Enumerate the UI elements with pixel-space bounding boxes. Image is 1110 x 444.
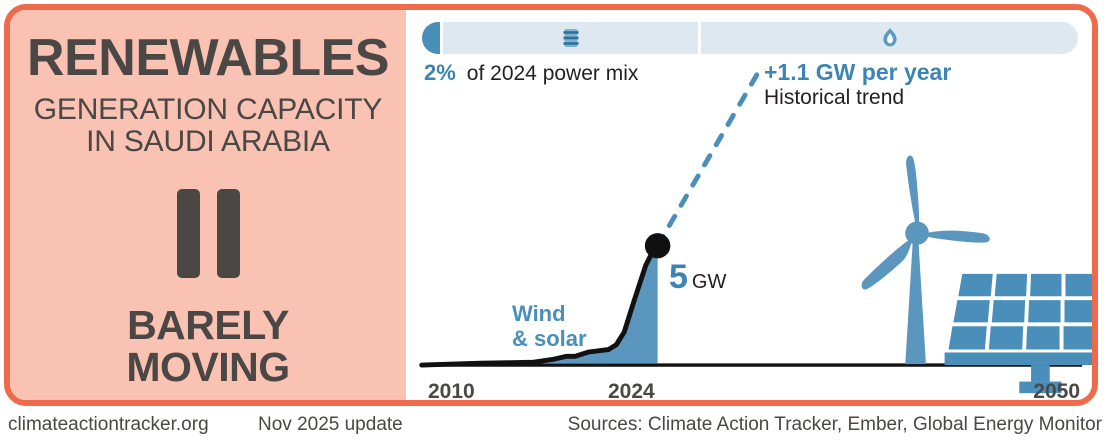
footer: climateactiontracker.org Nov 2025 update… xyxy=(0,408,1110,444)
datapoint-unit: GW xyxy=(692,271,726,294)
status-line-1: BARELY xyxy=(126,304,289,346)
trend-value: +1.1 GW per year xyxy=(764,60,951,86)
datapoint-value: 5 xyxy=(669,260,688,294)
pause-icon xyxy=(177,189,240,278)
status-line-2: MOVING xyxy=(126,346,289,388)
power-mix-caption: 2% of 2024 power mix xyxy=(424,60,638,86)
power-mix-label: of 2024 power mix xyxy=(467,62,639,86)
subtitle-line-2: IN SAUDI ARABIA xyxy=(34,126,382,158)
infographic-root: RENEWABLES GENERATION CAPACITY IN SAUDI … xyxy=(0,0,1110,444)
footer-website[interactable]: climateactiontracker.org xyxy=(8,414,209,436)
status-badge: BARELY MOVING xyxy=(126,304,289,388)
endpoint-marker xyxy=(645,233,671,258)
pause-icon-bar-right xyxy=(217,189,240,278)
x-axis-tick-start: 2010 xyxy=(428,380,475,404)
flame-icon xyxy=(880,27,900,49)
subtitle-line-1: GENERATION CAPACITY xyxy=(34,94,382,126)
series-label-line-2: & solar xyxy=(512,327,587,352)
footer-sources: Sources: Climate Action Tracker, Ember, … xyxy=(568,414,1102,436)
x-axis-tick-mid: 2024 xyxy=(608,380,655,404)
infographic-card: RENEWABLES GENERATION CAPACITY IN SAUDI … xyxy=(4,4,1098,406)
power-mix-value: 2% xyxy=(424,60,456,86)
trend-description: Historical trend xyxy=(764,86,951,110)
series-label-line-1: Wind xyxy=(512,302,587,327)
summary-panel: RENEWABLES GENERATION CAPACITY IN SAUDI … xyxy=(10,10,406,400)
series-label-wind-solar: Wind & solar xyxy=(512,302,587,351)
historical-trend-line xyxy=(658,66,762,245)
x-axis-tick-end: 2050 xyxy=(1033,380,1080,404)
page-subtitle: GENERATION CAPACITY IN SAUDI ARABIA xyxy=(34,94,382,159)
power-mix-segment-gas xyxy=(701,22,1078,54)
datapoint-label: 5 GW xyxy=(669,260,726,294)
x-axis-labels: 2010 2024 2050 xyxy=(406,380,1092,406)
pause-icon-bar-left xyxy=(177,189,200,278)
trend-annotation: +1.1 GW per year Historical trend xyxy=(764,60,951,109)
page-title: RENEWABLES xyxy=(27,32,389,84)
solar-panel-icon xyxy=(945,274,1092,393)
power-mix-segment-oil xyxy=(443,22,698,54)
power-mix-segment-renewables xyxy=(422,22,440,54)
power-mix-bar xyxy=(422,22,1078,54)
footer-update-date: Nov 2025 update xyxy=(258,414,403,436)
oil-barrel-icon xyxy=(563,28,579,48)
chart-panel: 2% of 2024 power mix +1.1 GW per year Hi… xyxy=(406,10,1092,400)
wind-turbine-icon xyxy=(862,156,990,365)
